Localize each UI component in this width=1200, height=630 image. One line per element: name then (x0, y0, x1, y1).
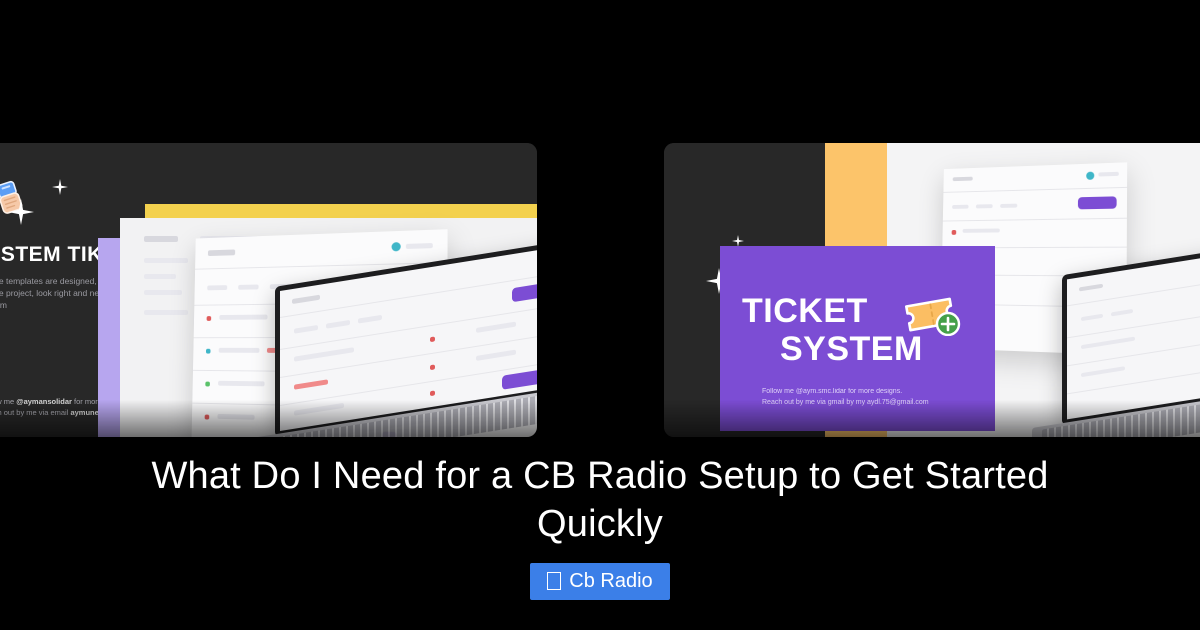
card-title-line2: SYSTEM (780, 332, 923, 366)
missing-glyph-icon (547, 572, 561, 590)
left-accent-bar (145, 204, 537, 218)
category-badge[interactable]: Cb Radio (530, 563, 669, 600)
text-block: What Do I Need for a CB Radio Setup to G… (0, 452, 1200, 600)
category-badge-label: Cb Radio (569, 570, 652, 592)
card-title-line1: TICKET (742, 294, 868, 328)
thumbnail-strip: SISTEM TIKET These templates are designe… (0, 143, 1200, 437)
page-title: What Do I Need for a CB Radio Setup to G… (100, 452, 1100, 548)
og-card: SISTEM TIKET These templates are designe… (0, 0, 1200, 630)
thumbnail-right[interactable]: TICKET SYSTEM Follow me @aym.smc.lidar f… (664, 143, 1200, 437)
thumbnail-left[interactable]: SISTEM TIKET These templates are designe… (0, 143, 537, 437)
badge-container: Cb Radio (0, 563, 1200, 600)
ticket-plus-icon (902, 292, 964, 336)
card-subtitle-line1: Follow me @aym.smc.lidar for more design… (762, 386, 977, 397)
